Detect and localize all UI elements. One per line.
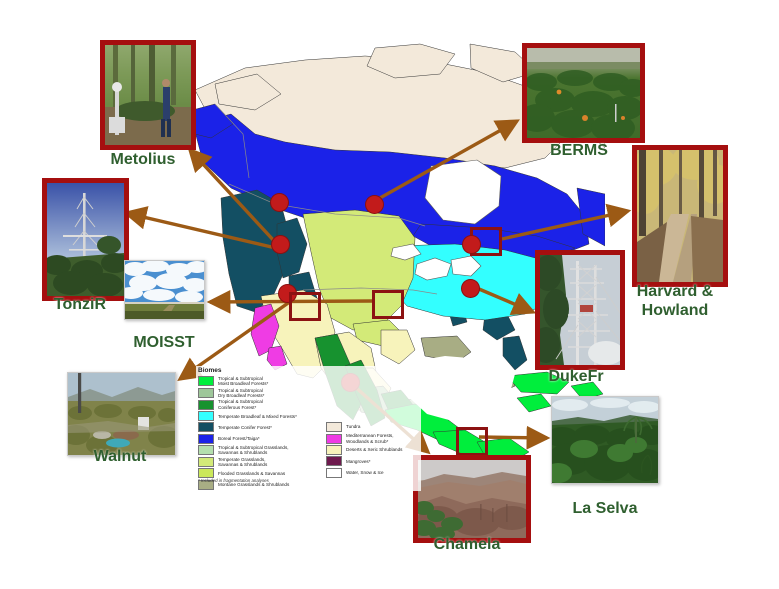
biome-legend: Biomes Tropical & SubtropicalMoist Broad… bbox=[196, 366, 421, 491]
legend-label: Mediterranean Forests,Woodlands & Scrub* bbox=[346, 433, 394, 443]
photo-la-selva[interactable] bbox=[551, 396, 659, 484]
caption-dukefr: DukeFr bbox=[526, 367, 626, 386]
arrow-tonzir bbox=[126, 213, 280, 249]
legend-label: Tropical & SubtropicalDry Broadleaf Fore… bbox=[218, 388, 264, 398]
photo-berms[interactable] bbox=[522, 43, 645, 143]
legend-label: Tundra bbox=[346, 424, 360, 429]
legend-row: Temperate Grasslands,Savannas & Shrublan… bbox=[198, 457, 326, 467]
marker-berms[interactable] bbox=[271, 194, 288, 211]
marker-box-moisst[interactable] bbox=[372, 290, 404, 319]
legend-label: Tropical & SubtropicalMoist Broadleaf Fo… bbox=[218, 376, 268, 386]
marker-dukefr[interactable] bbox=[462, 280, 479, 297]
legend-swatch-icon bbox=[326, 456, 342, 466]
arrow-laselva bbox=[479, 437, 547, 438]
legend-label: Tropical & Subtropical Grasslands,Savann… bbox=[218, 445, 289, 455]
marker-berms-north[interactable] bbox=[366, 196, 383, 213]
arrow-harvard bbox=[502, 211, 628, 239]
legend-row: Tropical & SubtropicalDry Broadleaf Fore… bbox=[198, 388, 326, 398]
legend-column-left: Tropical & SubtropicalMoist Broadleaf Fo… bbox=[196, 376, 326, 491]
legend-label: Boreal Forest/Taiga* bbox=[218, 436, 260, 441]
photo-tonzir[interactable] bbox=[42, 178, 129, 301]
legend-row: Tropical & SubtropicalMoist Broadleaf Fo… bbox=[198, 376, 326, 386]
legend-swatch-icon bbox=[198, 422, 214, 432]
arrow-metolius bbox=[190, 150, 276, 243]
legend-label: Water, Snow & Ice bbox=[346, 470, 384, 475]
legend-footnote: * Included in fragmentation analyses bbox=[198, 478, 269, 483]
legend-title: Biomes bbox=[198, 367, 421, 374]
legend-swatch-icon bbox=[198, 376, 214, 386]
legend-row: Deserts & Xeric Shrublands bbox=[326, 445, 422, 455]
legend-row: Temperate Broadleaf & Mixed Forests* bbox=[198, 411, 326, 421]
legend-swatch-icon bbox=[198, 388, 214, 398]
arrow-berms bbox=[380, 121, 517, 198]
legend-swatch-icon bbox=[326, 422, 342, 432]
legend-row: Tropical & SubtropicalConiferous Forest* bbox=[198, 399, 326, 409]
photo-harvard-howland[interactable] bbox=[632, 145, 728, 287]
legend-row: Boreal Forest/Taiga* bbox=[198, 434, 326, 444]
legend-swatch-icon bbox=[326, 445, 342, 455]
caption-chamela: Chamela bbox=[406, 535, 528, 554]
legend-row: Temperate Conifer Forest* bbox=[198, 422, 326, 432]
legend-row: Tropical & Subtropical Grasslands,Savann… bbox=[198, 445, 326, 455]
legend-label: Flooded Grasslands & Savannas bbox=[218, 471, 285, 476]
legend-label: Tropical & SubtropicalConiferous Forest* bbox=[218, 399, 263, 409]
caption-moisst: MOISST bbox=[110, 333, 218, 352]
legend-swatch-icon bbox=[326, 468, 342, 478]
caption-walnut: Walnut bbox=[58, 447, 182, 466]
legend-label: Temperate Conifer Forest* bbox=[218, 425, 272, 430]
marker-box-laselva[interactable] bbox=[456, 427, 488, 456]
arrow-dukefr bbox=[479, 289, 533, 312]
caption-tonzir: TonziR bbox=[30, 295, 130, 314]
legend-row: Mangroves* bbox=[326, 456, 422, 466]
legend-row: Flooded Grasslands & Savannas bbox=[198, 468, 326, 478]
legend-swatch-icon bbox=[198, 468, 214, 478]
marker-box-walnut[interactable] bbox=[289, 292, 321, 321]
legend-column-right: TundraMediterranean Forests,Woodlands & … bbox=[324, 422, 422, 479]
marker-harvard-howland[interactable] bbox=[463, 236, 480, 253]
legend-label: Temperate Grasslands,Savannas & Shrublan… bbox=[218, 457, 267, 467]
caption-berms: BERMS bbox=[520, 141, 638, 160]
legend-row: Tundra bbox=[326, 422, 422, 432]
photo-moisst[interactable] bbox=[124, 260, 205, 320]
legend-swatch-icon bbox=[198, 434, 214, 444]
legend-swatch-icon bbox=[326, 434, 342, 444]
legend-label: Temperate Broadleaf & Mixed Forests* bbox=[218, 414, 297, 419]
caption-harvard-howland: Harvard & Howland bbox=[618, 282, 732, 320]
photo-metolius[interactable] bbox=[100, 40, 196, 150]
legend-swatch-icon bbox=[198, 445, 214, 455]
legend-swatch-icon bbox=[198, 411, 214, 421]
legend-label: Deserts & Xeric Shrublands bbox=[346, 447, 402, 452]
caption-metolius: Metolius bbox=[95, 150, 191, 169]
photo-dukefr[interactable] bbox=[535, 250, 625, 370]
legend-swatch-icon bbox=[198, 400, 214, 410]
legend-row: Water, Snow & Ice bbox=[326, 468, 422, 478]
photo-walnut[interactable] bbox=[67, 372, 176, 456]
legend-swatch-icon bbox=[198, 457, 214, 467]
marker-metolius[interactable] bbox=[272, 236, 289, 253]
caption-la-selva: La Selva bbox=[545, 499, 665, 518]
legend-label: Mangroves* bbox=[346, 459, 371, 464]
legend-row: Mediterranean Forests,Woodlands & Scrub* bbox=[326, 433, 422, 443]
photo-chamela[interactable] bbox=[413, 455, 531, 543]
